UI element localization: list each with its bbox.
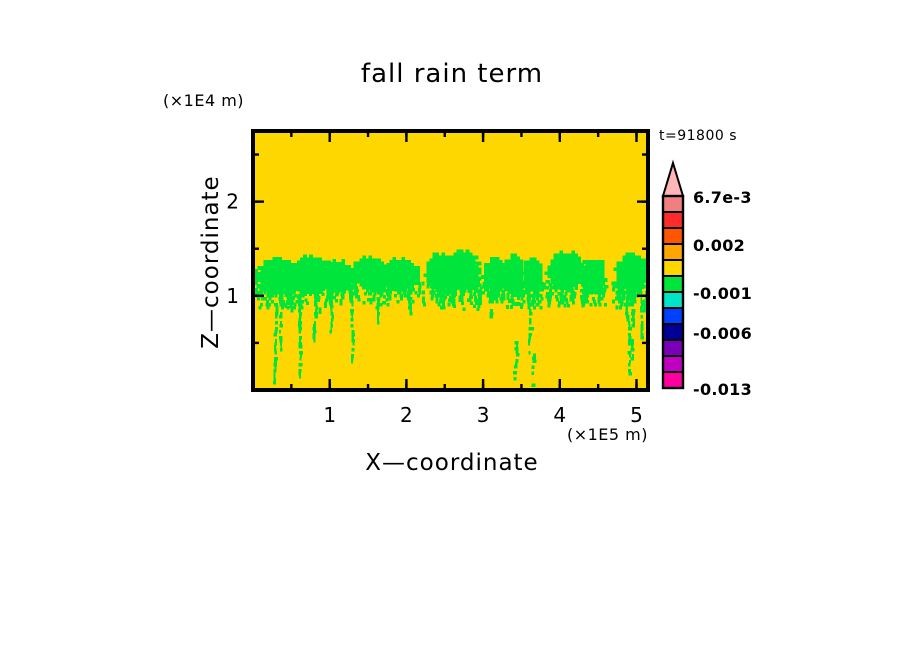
colorbar-tick-label: 6.7e-3 [693, 188, 752, 207]
timestamp-label: t=91800 s [659, 128, 737, 144]
colorbar-band [663, 292, 683, 308]
colorbar-band [663, 244, 683, 260]
colorbar-band [663, 260, 683, 276]
fall-rain-term-figure: fall rain term (×1E4 m) t=91800 s 12345 … [0, 0, 904, 654]
x-axis-unit-label: (×1E5 m) [567, 425, 648, 444]
colorbar-tick-label: -0.013 [693, 380, 752, 399]
colorbar-band [663, 324, 683, 340]
colorbar-band [663, 196, 683, 212]
colorbar-bands [663, 196, 683, 388]
colorbar-band [663, 276, 683, 292]
colorbar-band [663, 212, 683, 228]
colorbar-tick-label: -0.006 [693, 324, 752, 343]
colorbar-tick-label: -0.001 [693, 284, 752, 303]
x-tick-label: 1 [323, 403, 336, 427]
y-tick-label: 2 [226, 190, 239, 214]
colorbar-band [663, 356, 683, 372]
x-tick-label: 3 [477, 403, 490, 427]
y-axis-unit-label: (×1E4 m) [163, 91, 244, 110]
colorbar-band [663, 308, 683, 324]
x-axis-title: X—coordinate [365, 450, 538, 476]
colorbar-band [663, 340, 683, 356]
y-axis-title: Z—coordinate [198, 175, 224, 348]
plot-area [253, 131, 650, 390]
colorbar-band [663, 372, 683, 388]
colorbar-tick-label: 0.002 [693, 236, 745, 255]
x-tick-label: 5 [630, 403, 643, 427]
colorbar-band [663, 228, 683, 244]
figure-title: fall rain term [361, 59, 543, 89]
y-tick-label: 1 [226, 284, 239, 308]
x-tick-label: 2 [400, 403, 413, 427]
x-tick-label: 4 [553, 403, 566, 427]
